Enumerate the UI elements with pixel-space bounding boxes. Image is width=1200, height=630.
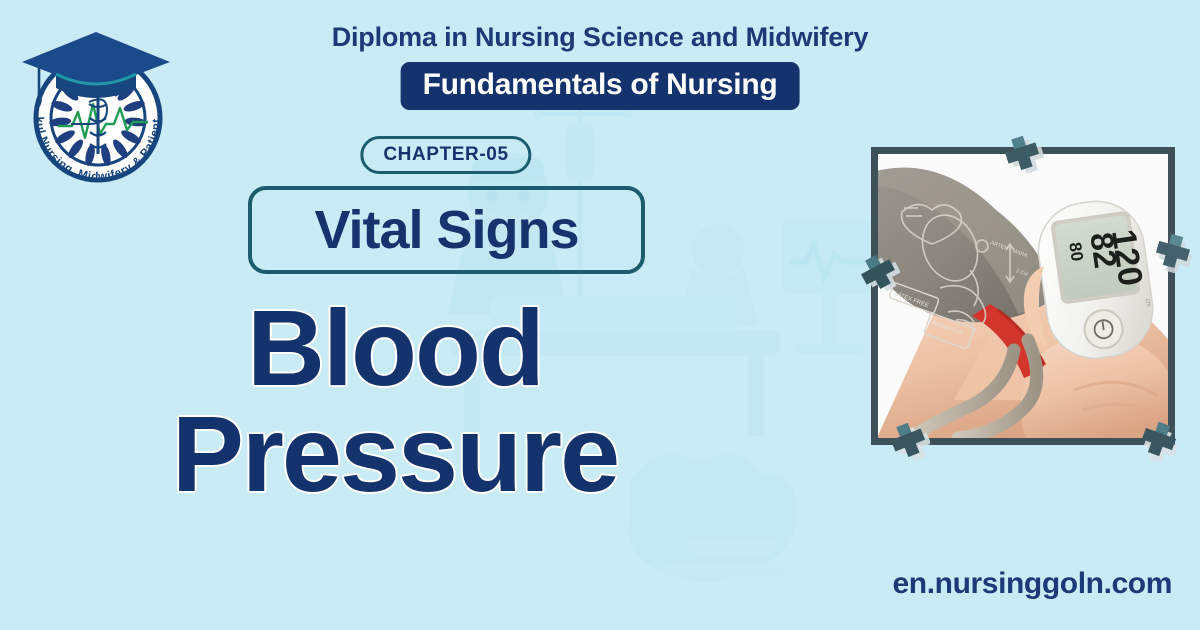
poster-canvas: Gurukul Nursing, Midwifery & Patient Car… <box>0 0 1200 630</box>
vital-signs-box: Vital Signs <box>248 186 645 274</box>
blood-pressure-monitor-photo: ARTERY MARK 2 CM LATEX FREE MEDIUM SIZE <box>871 147 1175 445</box>
page-title-line-2: Pressure <box>0 401 790 507</box>
chapter-pill: CHAPTER-05 <box>360 136 531 174</box>
page-title-line-1: Blood <box>0 295 790 401</box>
website-url[interactable]: en.nursinggoln.com <box>893 567 1172 601</box>
course-line: Diploma in Nursing Science and Midwifery <box>0 22 1200 53</box>
page-title: Blood Pressure <box>0 295 790 507</box>
lcd-diastolic: 82 <box>1083 230 1124 270</box>
subject-badge: Fundamentals of Nursing <box>401 62 800 110</box>
lcd-pulse: 80 <box>1065 241 1086 262</box>
vital-signs-label: Vital Signs <box>314 203 578 257</box>
svg-text:OK: OK <box>1144 298 1151 307</box>
